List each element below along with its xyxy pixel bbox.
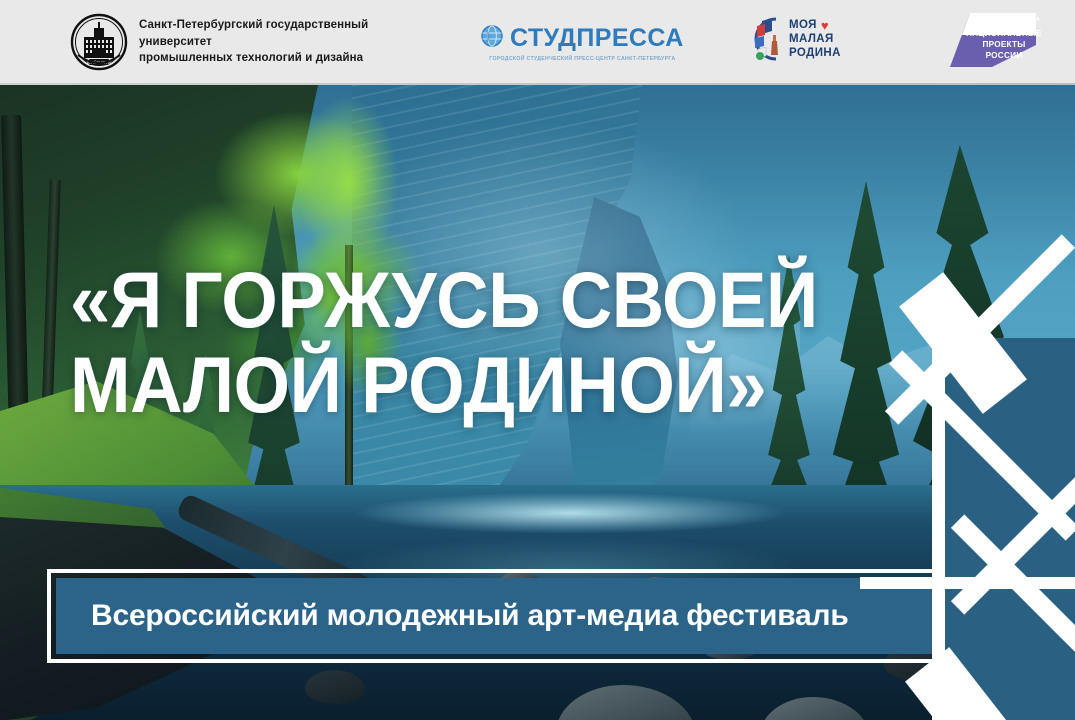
page-title: «Я ГОРЖУСЬ СВОЕЙ МАЛОЙ РОДИНОЙ»: [70, 258, 806, 427]
globe-icon: [481, 25, 503, 52]
river-highlight: [300, 487, 840, 539]
university-logo-block: СПбГУПТД Санкт-Петербургский государстве…: [70, 11, 429, 73]
national-projects-logo-block: КУЛЬТУРА НАЦИОНАЛЬНЫЕ ПРОЕКТЫ РОССИИ: [940, 11, 1048, 73]
subtitle-banner-fill: Всероссийский молодежный арт-медиа фести…: [56, 578, 946, 654]
university-name-line1: Санкт-Петербургский государственный унив…: [139, 17, 429, 50]
natprojects-kicker: КУЛЬТУРА: [1004, 17, 1041, 23]
sponsor-header-bar: СПбГУПТД Санкт-Петербургский государстве…: [0, 0, 1075, 85]
headline-line-2: МАЛОЙ РОДИНОЙ»: [70, 343, 806, 428]
geometric-decoration: [860, 170, 1075, 720]
subtitle-banner: Всероссийский молодежный арт-медиа фести…: [47, 569, 955, 663]
natprojects-title: НАЦИОНАЛЬНЫЕ ПРОЕКТЫ РОССИИ: [964, 28, 1044, 61]
spbgutd-emblem-icon: СПбГУПТД: [70, 11, 128, 73]
rodina-line3: РОДИНА: [789, 47, 841, 60]
heart-icon: ♥: [821, 19, 829, 32]
studpressa-tagline: ГОРОДСКОЙ СТУДЕНЧЕСКИЙ ПРЕСС-ЦЕНТР САНКТ…: [489, 56, 675, 62]
university-name: Санкт-Петербургский государственный унив…: [139, 17, 429, 67]
rodina-line2: МАЛАЯ: [789, 33, 841, 46]
natprojects-line1: НАЦИОНАЛЬНЫЕ: [964, 28, 1044, 39]
headline-line-1: «Я ГОРЖУСЬ СВОЕЙ: [70, 258, 806, 343]
rodina-line1: МОЯ: [789, 19, 817, 32]
subtitle-text: Всероссийский молодежный арт-медиа фести…: [56, 599, 849, 633]
studpressa-row: СТУДПРЕССА: [481, 24, 684, 53]
studpressa-wordmark: СТУДПРЕССА: [510, 24, 684, 53]
festival-poster: СПбГУПТД Санкт-Петербургский государстве…: [0, 0, 1075, 720]
rodina-text: МОЯ ♥ МАЛАЯ РОДИНА: [789, 19, 841, 60]
studpressa-logo-block: СТУДПРЕССА ГОРОДСКОЙ СТУДЕНЧЕСКИЙ ПРЕСС-…: [481, 24, 684, 62]
river-rock: [305, 670, 365, 704]
university-name-line2: промышленных технологий и дизайна: [139, 50, 429, 67]
natprojects-line3: РОССИИ: [964, 50, 1044, 61]
rodina-line1-row: МОЯ ♥: [789, 19, 841, 32]
rodina-logo-block: МОЯ ♥ МАЛАЯ РОДИНА: [748, 13, 841, 65]
natprojects-line2: ПРОЕКТЫ: [964, 39, 1044, 50]
hero-artwork: «Я ГОРЖУСЬ СВОЕЙ МАЛОЙ РОДИНОЙ» Всеросси…: [0, 85, 1075, 720]
rodina-mark-icon: [748, 13, 784, 65]
